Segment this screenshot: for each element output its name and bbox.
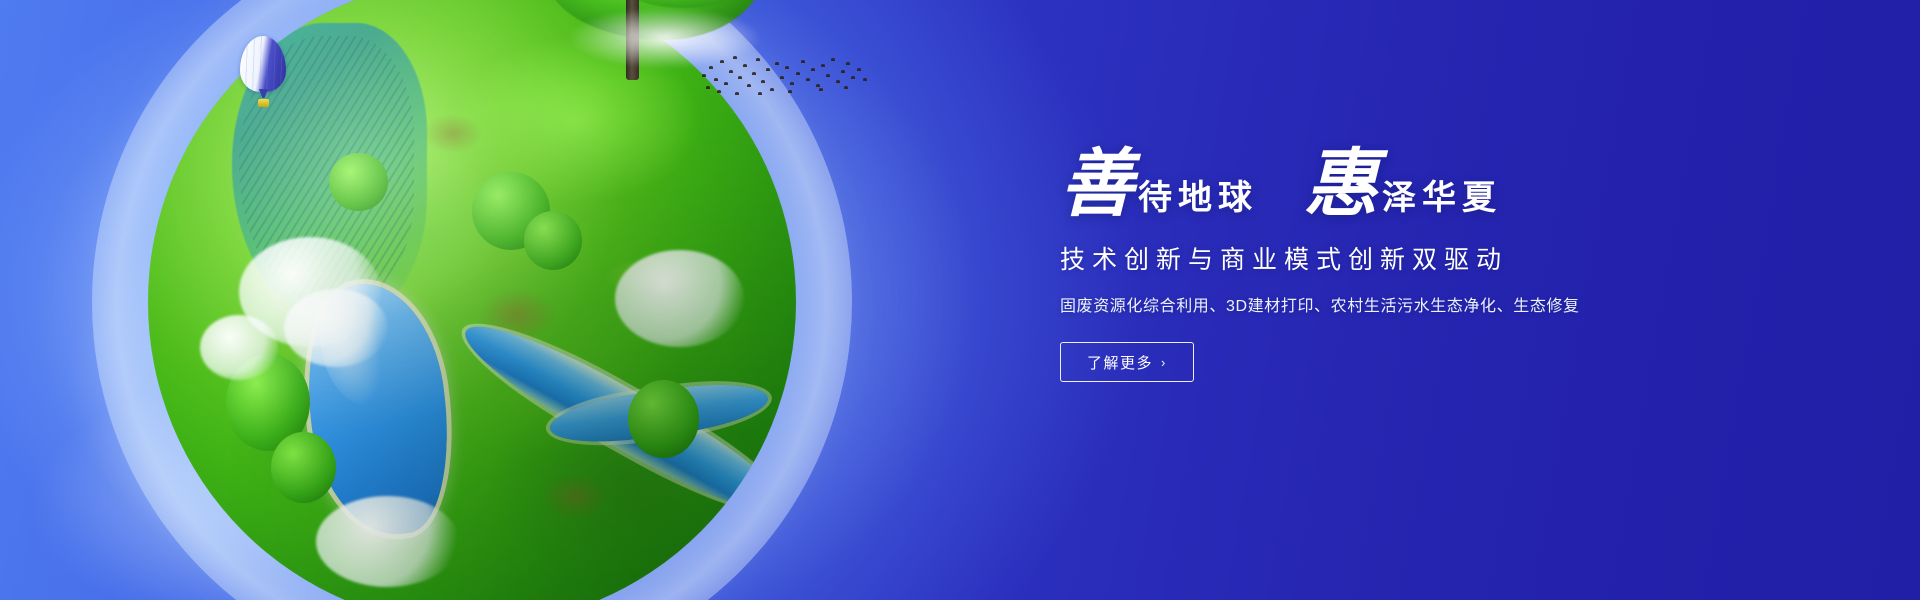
hero-copy: 善 待地球 惠 泽华夏 技术创新与商业模式创新双驱动 固废资源化综合利用、3D建… bbox=[1060, 148, 1760, 382]
bird-icon bbox=[761, 80, 765, 83]
bird-icon bbox=[844, 86, 848, 89]
bird-icon bbox=[733, 56, 737, 59]
bird-icon bbox=[724, 82, 728, 85]
headline-text-zehuaxia: 泽华夏 bbox=[1382, 182, 1502, 216]
hero-banner: 善 待地球 惠 泽华夏 技术创新与商业模式创新双驱动 固废资源化综合利用、3D建… bbox=[0, 0, 1920, 600]
bird-flock-icon bbox=[700, 48, 870, 108]
bird-icon bbox=[806, 78, 810, 81]
bird-icon bbox=[851, 76, 855, 79]
bird-icon bbox=[801, 60, 805, 63]
bird-icon bbox=[857, 68, 861, 71]
learn-more-button[interactable]: 了解更多 › bbox=[1060, 342, 1194, 382]
balloon-basket bbox=[258, 99, 269, 107]
bird-icon bbox=[756, 58, 760, 61]
hero-subtitle: 技术创新与商业模式创新双驱动 bbox=[1060, 240, 1760, 276]
bird-icon bbox=[811, 68, 815, 71]
bird-icon bbox=[831, 58, 835, 61]
bird-icon bbox=[836, 80, 840, 83]
bird-icon bbox=[846, 62, 850, 65]
hot-air-balloon-icon bbox=[240, 36, 288, 110]
bird-icon bbox=[770, 88, 774, 91]
bird-icon bbox=[821, 64, 825, 67]
balloon-neck bbox=[259, 89, 268, 98]
bird-icon bbox=[738, 76, 742, 79]
bird-icon bbox=[729, 70, 733, 73]
page-title: 善 待地球 惠 泽华夏 bbox=[1060, 148, 1760, 222]
bird-icon bbox=[735, 92, 739, 95]
bird-icon bbox=[747, 84, 751, 87]
bird-icon bbox=[788, 90, 792, 93]
headline-char-shan: 善 bbox=[1060, 148, 1134, 222]
bird-icon bbox=[758, 92, 762, 95]
bird-icon bbox=[796, 72, 800, 75]
bird-icon bbox=[775, 62, 779, 65]
bird-icon bbox=[780, 76, 784, 79]
chevron-right-icon: › bbox=[1161, 355, 1167, 370]
bird-icon bbox=[826, 74, 830, 77]
headline-text-daidiqiu: 待地球 bbox=[1138, 182, 1258, 216]
bird-icon bbox=[743, 64, 747, 67]
bird-icon bbox=[766, 68, 770, 71]
bird-icon bbox=[714, 78, 718, 81]
bird-icon bbox=[841, 70, 845, 73]
bird-icon bbox=[706, 86, 710, 89]
bird-icon bbox=[720, 60, 724, 63]
hero-description: 固废资源化综合利用、3D建材打印、农村生活污水生态净化、生态修复 bbox=[1060, 292, 1760, 316]
bird-icon bbox=[709, 66, 713, 69]
bird-icon bbox=[785, 66, 789, 69]
bird-icon bbox=[702, 74, 706, 77]
bird-icon bbox=[819, 88, 823, 91]
learn-more-label: 了解更多 bbox=[1087, 352, 1153, 373]
bird-icon bbox=[717, 90, 721, 93]
balloon-ribs bbox=[240, 36, 286, 92]
bird-icon bbox=[816, 84, 820, 87]
bird-icon bbox=[863, 78, 867, 81]
headline-char-hui: 惠 bbox=[1304, 148, 1378, 222]
bird-icon bbox=[790, 82, 794, 85]
bird-icon bbox=[752, 72, 756, 75]
